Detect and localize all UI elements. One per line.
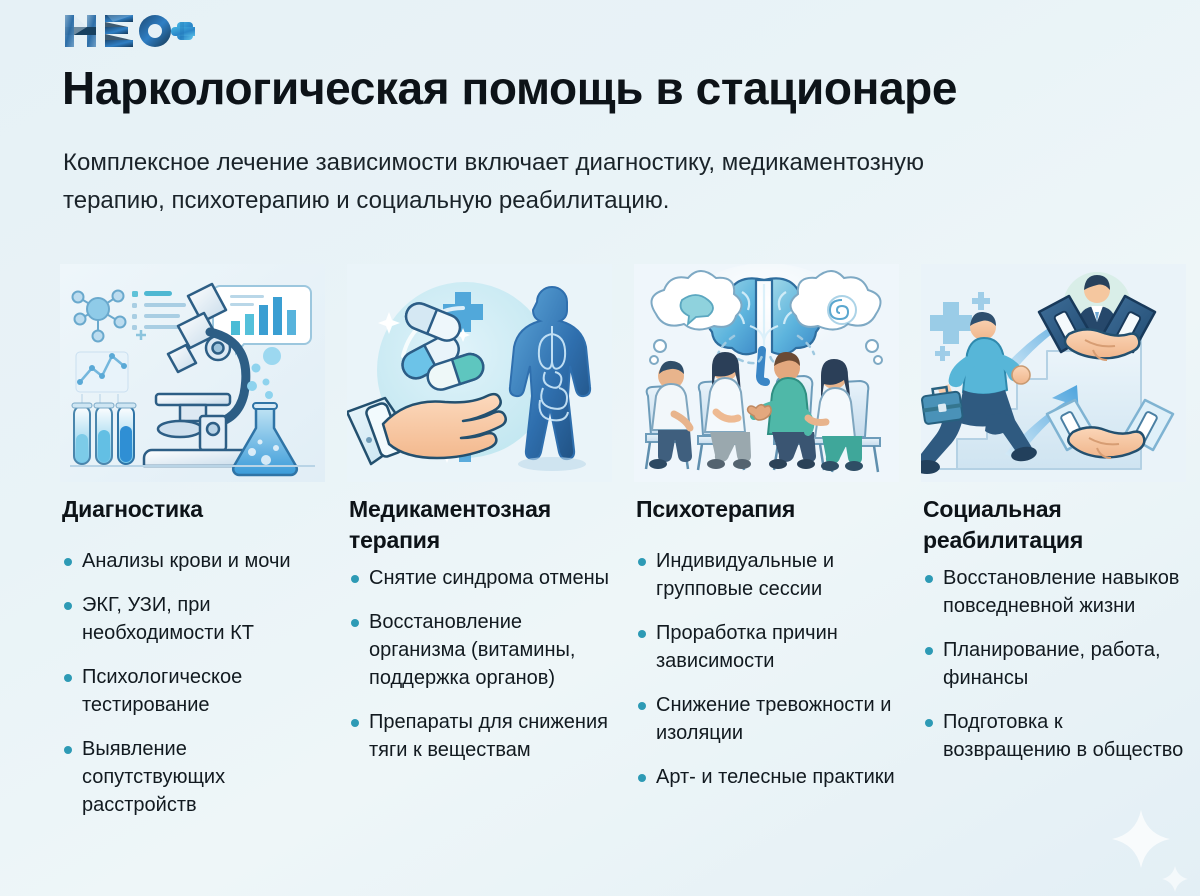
list-item: Индивидуальные и групповые сессии [636, 547, 901, 603]
list-item: Препараты для снижения тяги к веществам [349, 708, 614, 764]
list-item: Анализы крови и мочи [62, 547, 327, 575]
list-item: Арт- и телесные практики [636, 763, 901, 791]
logo-letter-o [139, 15, 171, 47]
list-item: ЭКГ, УЗИ, при необходимости КТ [62, 591, 327, 647]
logo-letter-e [105, 15, 133, 47]
list-item: Снижение тревожности и изоляции [636, 691, 901, 747]
logo-plus-icon [171, 22, 195, 40]
list-item: Подготовка к возвращению в общество [923, 708, 1188, 764]
list-item: Психологическое тестирование [62, 663, 327, 719]
column-heading-diagnostics: Диагностика [62, 494, 327, 525]
bullet-list-medication: Снятие синдрома отмены Восстановление ор… [349, 564, 614, 764]
bullet-list-psychotherapy: Индивидуальные и групповые сессии Прораб… [636, 547, 901, 791]
list-item: Планирование, работа, финансы [923, 636, 1188, 692]
page-subtitle: Комплексное лечение зависимости включает… [63, 144, 963, 220]
career-handshake-illustration [921, 264, 1186, 482]
microscope-lab-illustration [60, 264, 325, 482]
neo-plus-logo [63, 12, 195, 50]
list-item: Восстановление навыков повседневной жизн… [923, 564, 1188, 620]
service-columns: Диагностика Анализы крови и мочи ЭКГ, УЗ… [50, 264, 1200, 835]
infographic-page: Наркологическая помощь в стационаре Комп… [0, 0, 1200, 896]
column-diagnostics: Диагностика Анализы крови и мочи ЭКГ, УЗ… [50, 264, 337, 835]
hand-with-pills-illustration [347, 264, 612, 482]
column-medication: Медикаментозная терапия Снятие синдрома … [337, 264, 624, 835]
list-item: Выявление сопутствующих расстройств [62, 735, 327, 819]
bullet-list-diagnostics: Анализы крови и мочи ЭКГ, УЗИ, при необх… [62, 547, 327, 819]
column-psychotherapy: Психотерапия Индивидуальные и групповые … [624, 264, 911, 835]
bullet-list-social-rehab: Восстановление навыков повседневной жизн… [923, 564, 1188, 764]
column-social-rehab: Социальная реабилитация Восстановление н… [911, 264, 1198, 835]
column-heading-medication: Медикаментозная терапия [349, 494, 614, 556]
page-title: Наркологическая помощь в стационаре [62, 60, 1162, 116]
list-item: Проработка причин зависимости [636, 619, 901, 675]
column-heading-social-rehab: Социальная реабилитация [923, 494, 1188, 556]
group-therapy-illustration [634, 264, 899, 482]
list-item: Снятие синдрома отмены [349, 564, 614, 592]
logo-letter-n [65, 15, 96, 47]
column-heading-psychotherapy: Психотерапия [636, 494, 901, 525]
sparkle-decoration-small [1162, 866, 1188, 892]
list-item: Восстановление организма (витамины, подд… [349, 608, 614, 692]
